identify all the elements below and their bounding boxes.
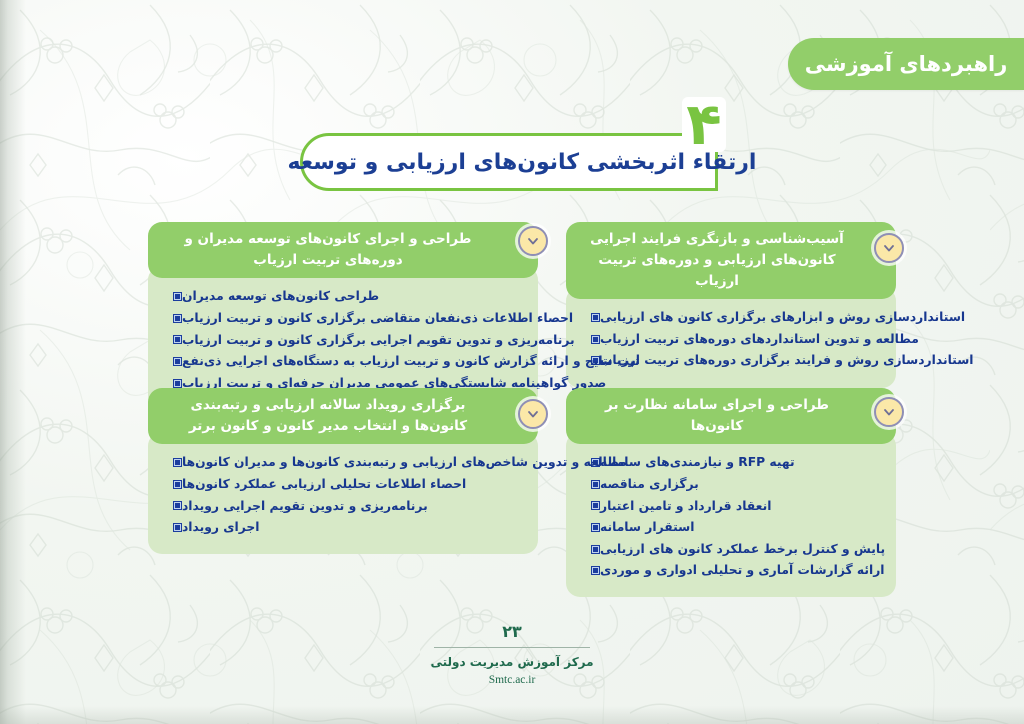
bullet-text: ارائه گزارشات آماری و تحلیلی ادواری و مو… (600, 562, 885, 579)
bullet-text: برنامه‌ریزی و تدوین تقویم اجرایی رویداد (182, 498, 428, 515)
page-footer: ۲۳ مرکز آموزش مدیریت دولتی Smtc.ac.ir (0, 622, 1024, 686)
bullet-text: احصاء اطلاعات ذی‌نفعان متقاضی برگزاری کا… (182, 310, 573, 327)
bullet-square-icon (173, 458, 182, 467)
card-bottom-right-bullet-list: تهیه RFP و نیازمندی‌های سامانه برگزاری م… (582, 452, 880, 582)
list-item: مطالعه و تدوین استانداردهای دوره‌های ترب… (582, 328, 880, 350)
list-item: انعقاد قرارداد و تامین اعتبار (582, 495, 880, 517)
bullet-square-icon (173, 501, 182, 510)
card-top-left: طراحی و اجرای کانون‌های توسعه مدیران و د… (148, 222, 538, 410)
page-bottom-edge-shadow (0, 706, 1024, 724)
bullet-square-icon (591, 335, 600, 344)
bullet-square-icon (591, 545, 600, 554)
chevron-down-circle-icon[interactable] (874, 397, 904, 427)
bullet-text: احصاء اطلاعات تحلیلی ارزیابی عملکرد کانو… (182, 476, 466, 493)
list-item: طراحی کانون‌های توسعه مدیران (164, 286, 522, 308)
section-banner: راهبردهای آموزشی (788, 38, 1024, 90)
card-top-left-bullet-list: طراحی کانون‌های توسعه مدیران احصاء اطلاع… (164, 286, 522, 394)
bullet-text: استقرار سامانه (600, 519, 694, 536)
bullet-text: برگزاری مناقصه (600, 476, 699, 493)
list-item: استانداردسازی روش و ابزارهای برگزاری کان… (582, 307, 880, 329)
list-item: ارائه گزارشات آماری و تحلیلی ادواری و مو… (582, 560, 880, 582)
bullet-text: استانداردسازی روش و ابزارهای برگزاری کان… (600, 309, 965, 326)
list-item: برگزاری مناقصه (582, 473, 880, 495)
chevron-down-circle-icon[interactable] (518, 399, 548, 429)
bullet-square-icon (173, 292, 182, 301)
bullet-text: مطالعه و تدوین شاخص‌های ارزیابی و رتبه‌ب… (182, 454, 627, 471)
title-number-value: ۴ (682, 97, 725, 152)
list-item: برنامه‌ریزی و تدوین تقویم اجرایی رویداد (164, 495, 522, 517)
bullet-square-icon (591, 313, 600, 322)
bullet-square-icon (591, 566, 600, 575)
list-item: برنامه‌ریزی و تدوین تقویم اجرایی برگزاری… (164, 329, 522, 351)
card-top-right-heading: آسیب‌شناسی و بازنگری فرایند اجرایی کانون… (566, 222, 896, 299)
bullet-square-icon (173, 523, 182, 532)
list-item: اجرای رویداد (164, 517, 522, 539)
bullet-square-icon (591, 523, 600, 532)
card-top-right-body: استانداردسازی روش و ابزارهای برگزاری کان… (566, 287, 896, 388)
list-item: پایش و کنترل برخط عملکرد کانون های ارزیا… (582, 538, 880, 560)
bullet-square-icon (591, 480, 600, 489)
bullet-text: برنامه‌ریزی و تدوین تقویم اجرایی برگزاری… (182, 332, 575, 349)
bullet-text: مطالعه و تدوین استانداردهای دوره‌های ترب… (600, 331, 919, 348)
card-top-left-heading: طراحی و اجرای کانون‌های توسعه مدیران و د… (148, 222, 538, 278)
main-title: ارتقاء اثربخشی کانون‌های ارزیابی و توسعه… (300, 133, 718, 191)
bullet-text: ثبت نتایج و ارائه گزارش کانون و تربیت ار… (182, 353, 640, 370)
card-bottom-right-heading: طراحی و اجرای سامانه نظارت بر کانون‌ها (566, 388, 896, 444)
card-bottom-left-heading: برگزاری رویداد سالانه ارزیابی و رتبه‌بند… (148, 388, 538, 444)
list-item: استقرار سامانه (582, 517, 880, 539)
bullet-text: استانداردسازی روش و فرایند برگزاری دوره‌… (600, 352, 974, 369)
page-number: ۲۳ (502, 622, 522, 641)
page-left-edge-shadow (0, 0, 26, 724)
list-item: مطالعه و تدوین شاخص‌های ارزیابی و رتبه‌ب… (164, 452, 522, 474)
footer-website: Smtc.ac.ir (489, 674, 536, 686)
page-background: راهبردهای آموزشی ارتقاء اثربخشی کانون‌ها… (0, 0, 1024, 724)
chevron-down-circle-icon[interactable] (874, 233, 904, 263)
bullet-square-icon (173, 335, 182, 344)
bullet-square-icon (173, 379, 182, 388)
bullet-square-icon (173, 314, 182, 323)
bullet-text: طراحی کانون‌های توسعه مدیران (182, 288, 379, 305)
bullet-text: انعقاد قرارداد و تامین اعتبار (600, 498, 771, 515)
list-item: احصاء اطلاعات تحلیلی ارزیابی عملکرد کانو… (164, 473, 522, 495)
bullet-text: پایش و کنترل برخط عملکرد کانون های ارزیا… (600, 541, 885, 558)
list-item: ثبت نتایج و ارائه گزارش کانون و تربیت ار… (164, 351, 522, 373)
bullet-square-icon (173, 357, 182, 366)
bullet-text: تهیه RFP و نیازمندی‌های سامانه (600, 454, 795, 471)
list-item: احصاء اطلاعات ذی‌نفعان متقاضی برگزاری کا… (164, 307, 522, 329)
section-banner-label: راهبردهای آموزشی (805, 52, 1008, 76)
footer-organization: مرکز آموزش مدیریت دولتی (430, 655, 593, 669)
card-bottom-right: طراحی و اجرای سامانه نظارت بر کانون‌ها ت… (566, 388, 896, 597)
card-bottom-left: برگزاری رویداد سالانه ارزیابی و رتبه‌بند… (148, 388, 538, 554)
bullet-square-icon (173, 480, 182, 489)
footer-divider (434, 647, 590, 648)
bullet-text: اجرای رویداد (182, 519, 259, 536)
chevron-down-circle-icon[interactable] (518, 226, 548, 256)
card-bottom-left-bullet-list: مطالعه و تدوین شاخص‌های ارزیابی و رتبه‌ب… (164, 452, 522, 538)
main-title-bar: ارتقاء اثربخشی کانون‌های ارزیابی و توسعه (300, 133, 718, 191)
title-number-badge: ۴ (672, 97, 736, 193)
bullet-square-icon (591, 501, 600, 510)
card-bottom-left-body: مطالعه و تدوین شاخص‌های ارزیابی و رتبه‌ب… (148, 432, 538, 554)
